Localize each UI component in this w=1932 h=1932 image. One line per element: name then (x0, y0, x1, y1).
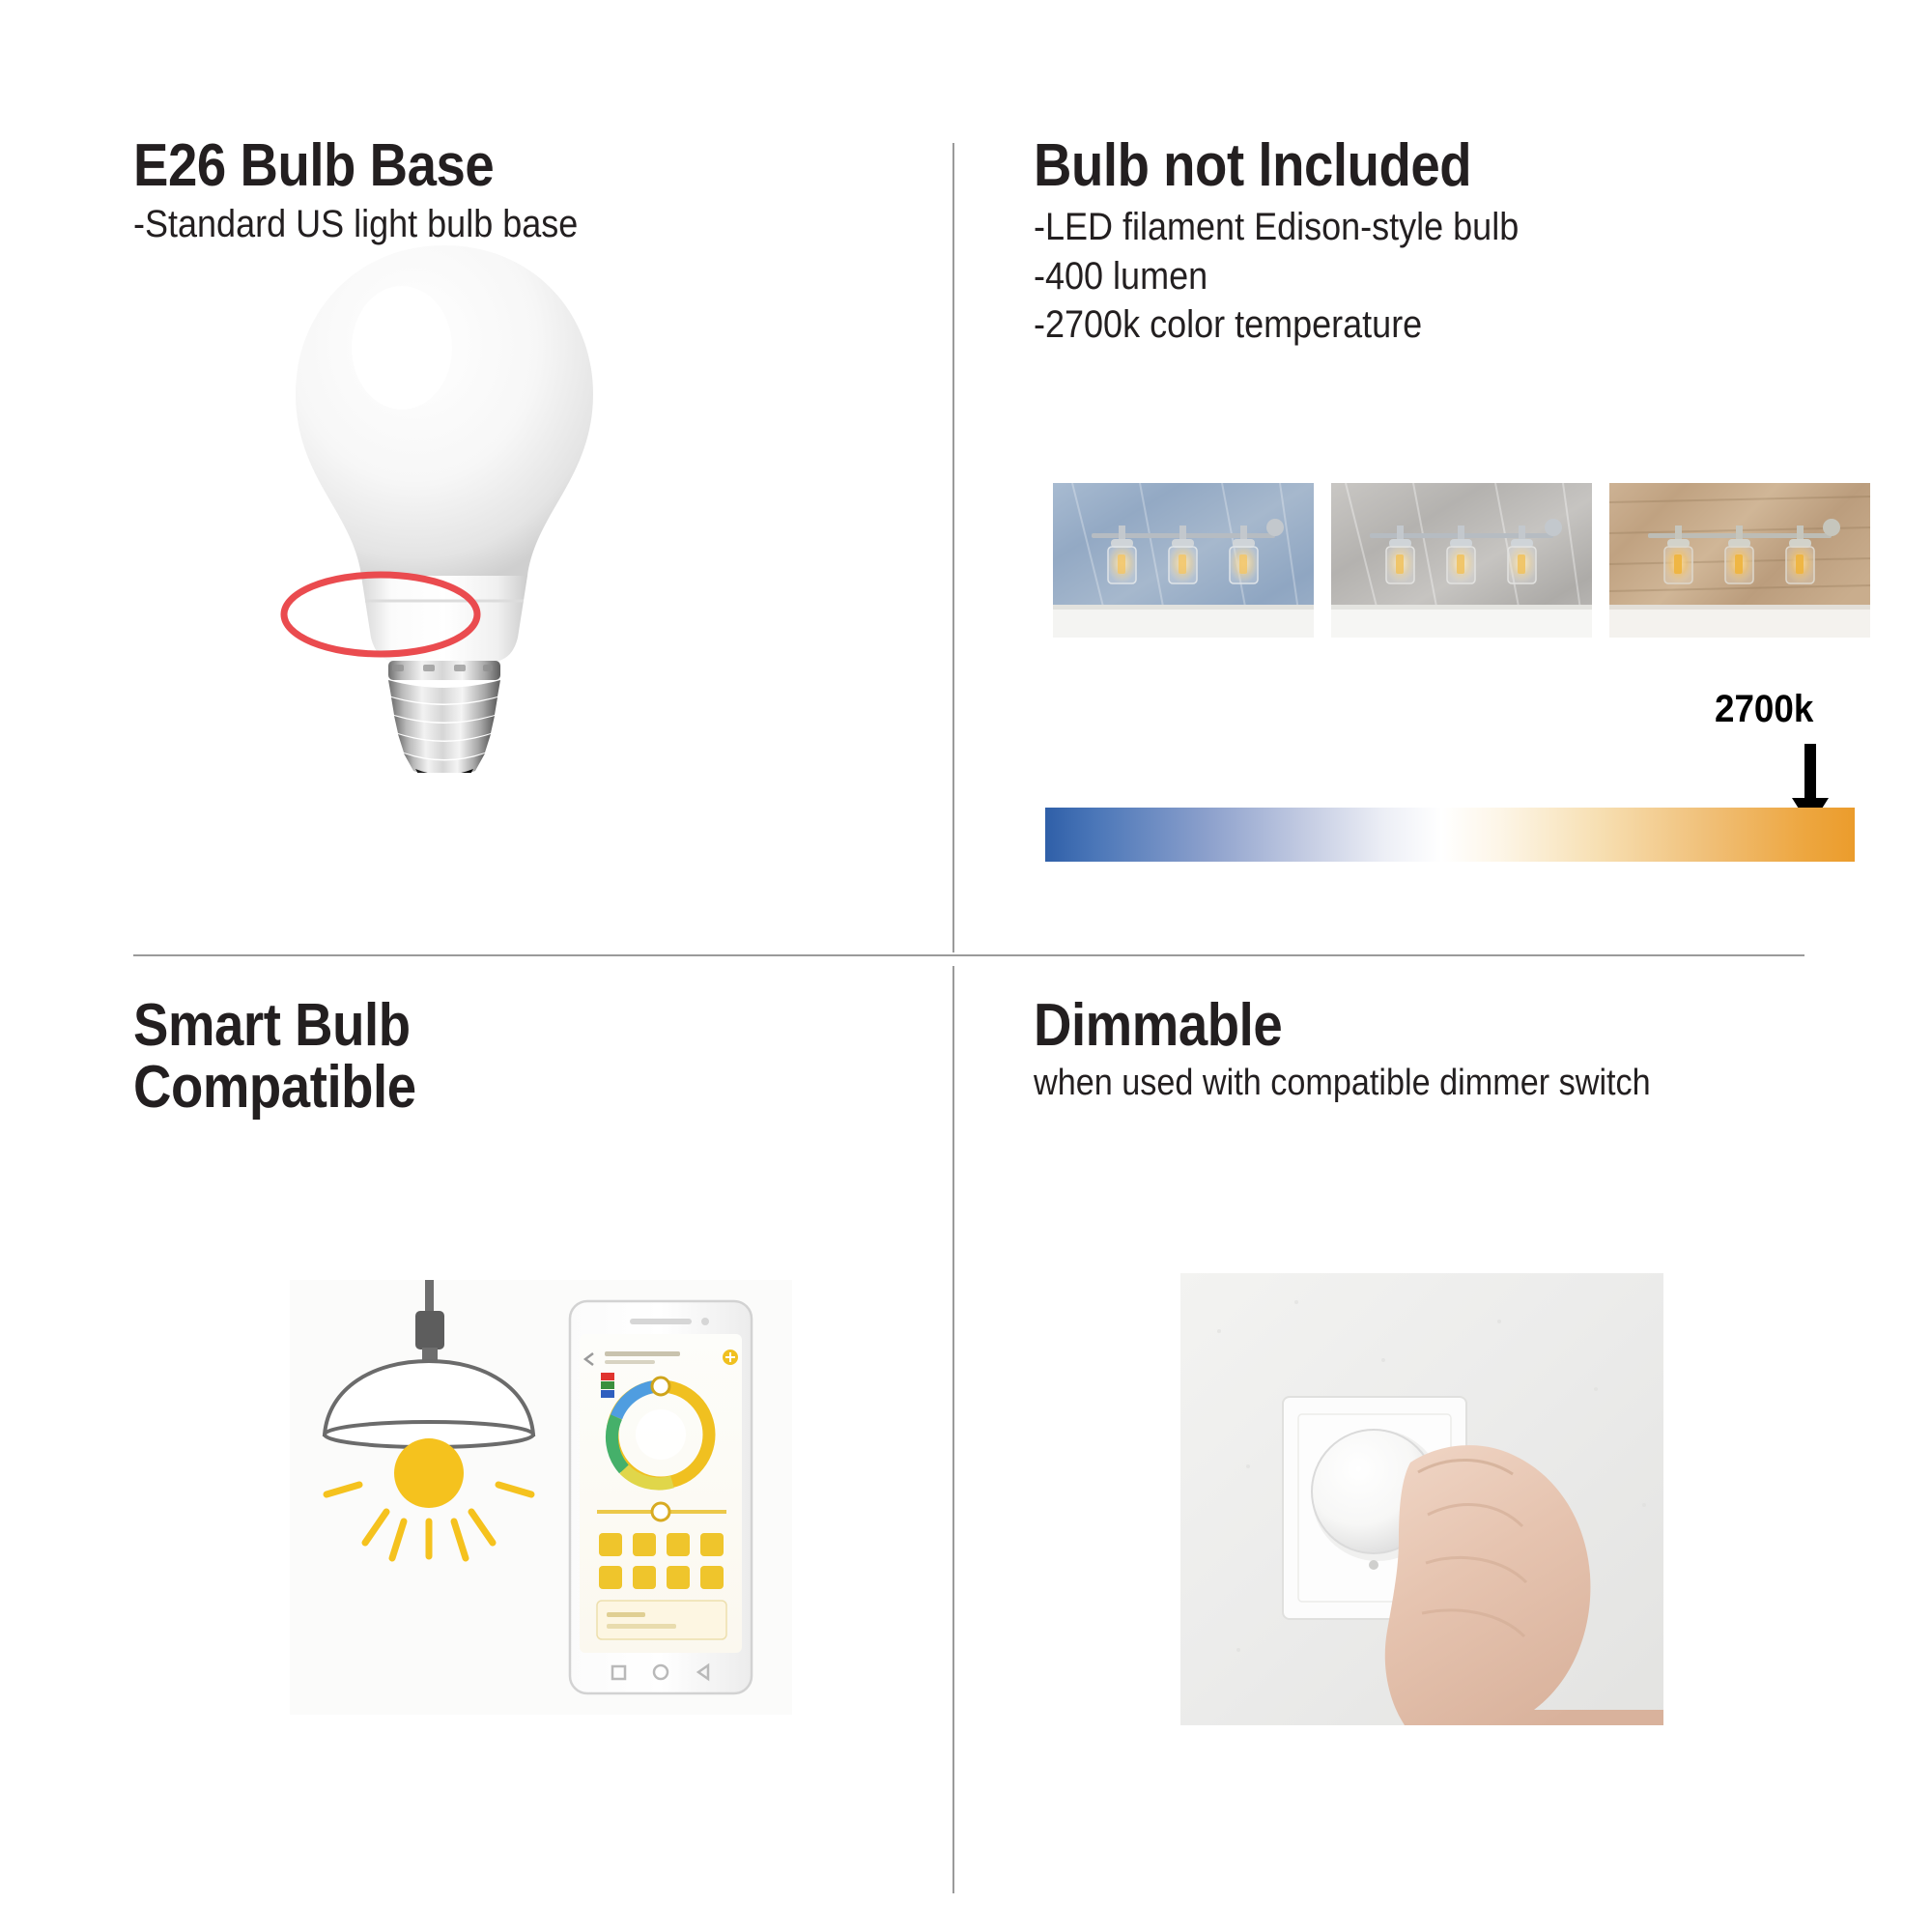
dimmer-indicator-dot (1369, 1560, 1378, 1570)
panel-subtitle-dimmable: when used with compatible dimmer switch (1034, 1061, 1799, 1105)
divider-vertical-bottom (952, 966, 954, 1893)
smart-bulb-scene (290, 1280, 792, 1715)
panel-heading-e26: E26 Bulb Base (133, 135, 831, 197)
dimmer-switch-photo (1180, 1273, 1663, 1725)
divider-horizontal (133, 954, 1804, 956)
panel-heading-smart-bulb: Smart Bulb Compatible (133, 995, 831, 1120)
bulb-illustration (241, 232, 647, 773)
e26-screw-base (388, 661, 500, 773)
bulb-svg (241, 232, 647, 773)
infographic-canvas: E26 Bulb Base -Standard US light bulb ba… (0, 0, 1932, 1932)
bulb-glass (296, 245, 593, 576)
list-item: -400 lumen (1034, 252, 1781, 300)
vanity-photo-row (1053, 483, 1870, 638)
vanity-photo-blue (1053, 483, 1314, 638)
kelvin-gradient-bar (1045, 808, 1855, 862)
vanity-photo-beige (1609, 483, 1870, 638)
smartphone (570, 1301, 752, 1693)
vanity-photo-grey (1331, 483, 1592, 638)
list-item: -LED filament Edison-style bulb (1034, 203, 1781, 251)
e26-base-highlight-ellipse (278, 568, 483, 661)
panel-heading-dimmable: Dimmable (1034, 995, 1781, 1057)
red-ellipse (284, 575, 477, 654)
bulb-spec-list: -LED filament Edison-style bulb -400 lum… (1034, 203, 1864, 349)
kelvin-marker-label: 2700k (1715, 688, 1813, 731)
bulb-highlight (352, 286, 452, 410)
panel-heading-bulb-not-included: Bulb not lncluded (1034, 135, 1765, 197)
list-item: -2700k color temperature (1034, 300, 1781, 349)
divider-vertical-top (952, 143, 954, 952)
